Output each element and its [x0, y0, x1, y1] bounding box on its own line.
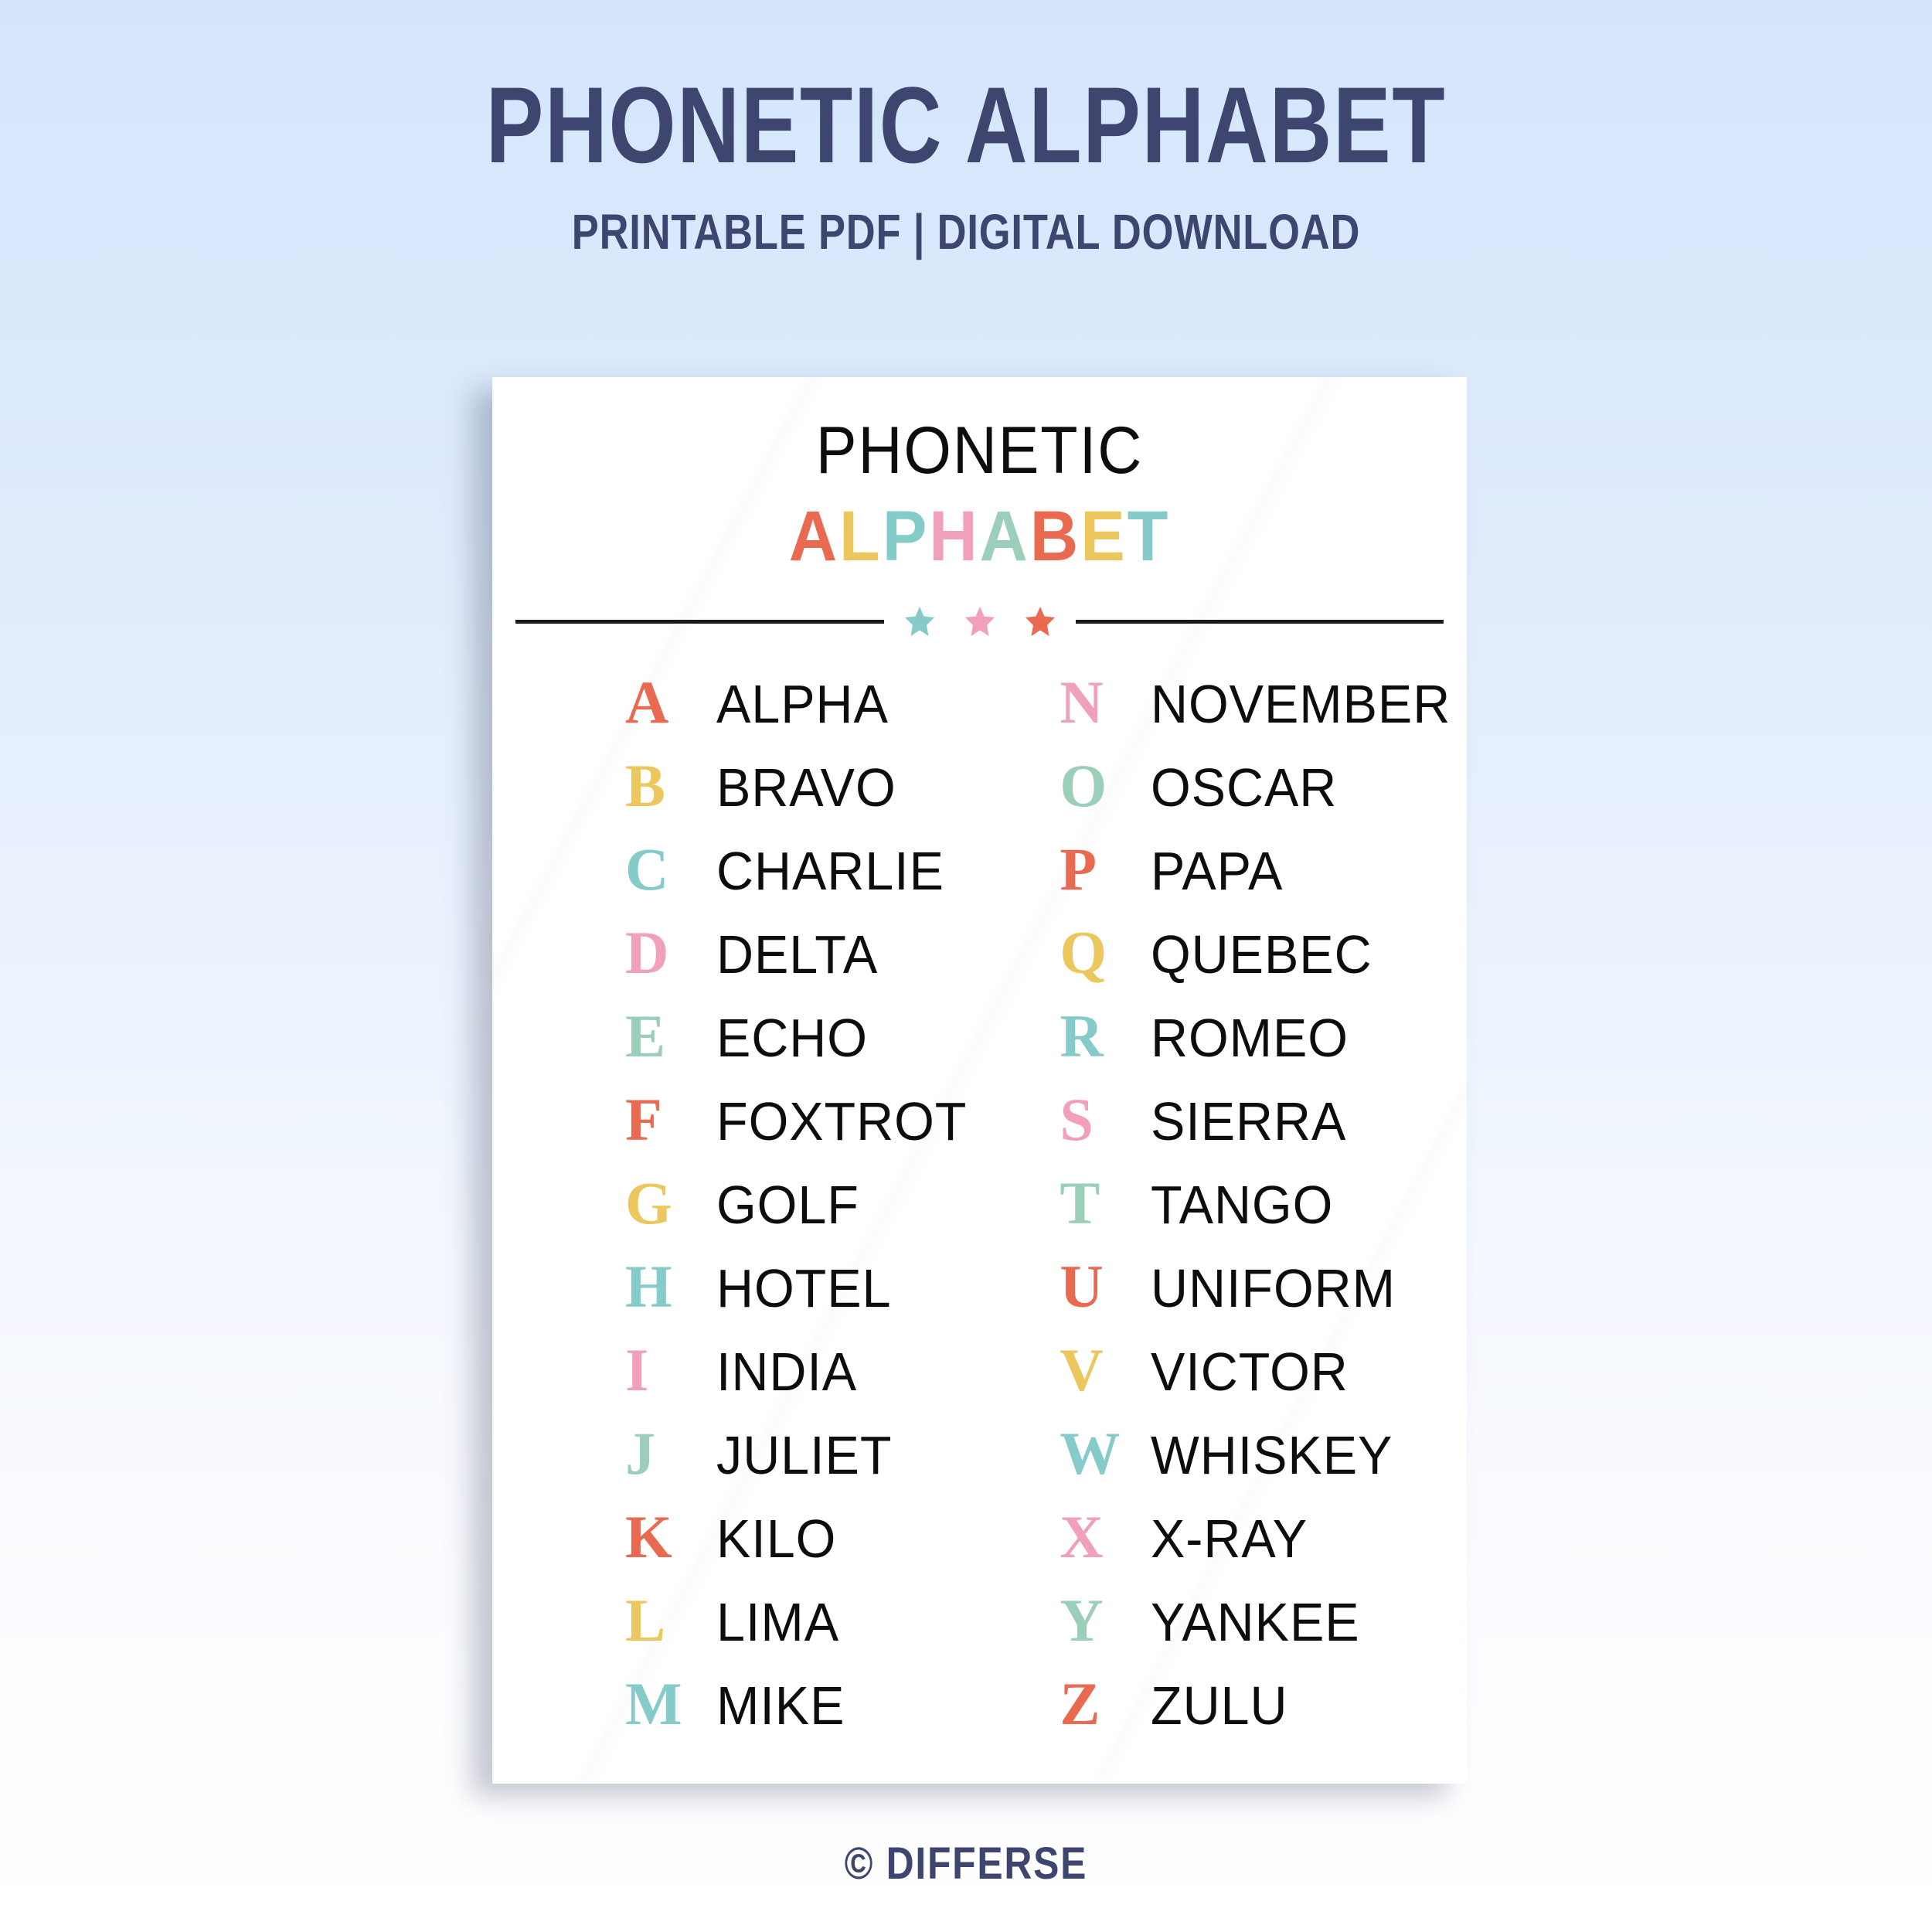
alphabet-word-n: NOVEMBER — [1151, 677, 1451, 731]
card-subtitle-letter-2: P — [883, 501, 930, 572]
alphabet-letter-z: Z — [1060, 1674, 1151, 1734]
alphabet-word-t: TANGO — [1151, 1178, 1333, 1232]
alphabet-row-f: FFOXTROT — [625, 1090, 1001, 1173]
alphabet-row-r: RROMEO — [1060, 1006, 1467, 1090]
page-subtitle: PRINTABLE PDF | DIGITAL DOWNLOAD — [174, 179, 1758, 257]
alphabet-letter-n: N — [1060, 672, 1151, 733]
alphabet-word-r: ROMEO — [1151, 1011, 1349, 1065]
alphabet-column-left: AALPHABBRAVOCCHARLIEDDELTAEECHOFFOXTROTG… — [492, 672, 1001, 1757]
card-divider — [492, 606, 1467, 637]
alphabet-row-e: EECHO — [625, 1006, 1001, 1090]
alphabet-letter-q: Q — [1060, 923, 1151, 983]
alphabet-letter-h: H — [625, 1257, 716, 1317]
card-title: PHONETIC — [531, 417, 1427, 484]
alphabet-row-o: OOSCAR — [1060, 756, 1467, 839]
alphabet-word-z: ZULU — [1151, 1679, 1287, 1733]
card-subtitle-letter-1: L — [839, 501, 883, 572]
alphabet-word-a: ALPHA — [716, 677, 889, 731]
alphabet-row-b: BBRAVO — [625, 756, 1001, 839]
alphabet-letter-c: C — [625, 839, 716, 900]
card-subtitle-letter-7: T — [1128, 501, 1171, 572]
card-subtitle-letter-5: B — [1030, 501, 1080, 572]
card-subtitle-letter-3: H — [929, 501, 979, 572]
alphabet-row-y: YYANKEE — [1060, 1590, 1467, 1674]
alphabet-row-p: PPAPA — [1060, 839, 1467, 923]
alphabet-word-u: UNIFORM — [1151, 1261, 1396, 1315]
card-subtitle-letter-4: A — [980, 501, 1030, 572]
alphabet-row-j: JJULIET — [625, 1423, 1001, 1507]
alphabet-row-q: QQUEBEC — [1060, 923, 1467, 1006]
alphabet-row-c: CCHARLIE — [625, 839, 1001, 923]
alphabet-row-x: XX-RAY — [1060, 1507, 1467, 1590]
alphabet-row-t: TTANGO — [1060, 1173, 1467, 1257]
divider-line-left — [515, 620, 884, 624]
star-coral-icon — [1025, 606, 1056, 637]
card-subtitle-letter-6: E — [1080, 501, 1128, 572]
alphabet-word-x: X-RAY — [1151, 1512, 1308, 1566]
alphabet-word-w: WHISKEY — [1151, 1428, 1393, 1482]
alphabet-letter-s: S — [1060, 1090, 1151, 1150]
alphabet-letter-g: G — [625, 1173, 716, 1233]
alphabet-letter-u: U — [1060, 1257, 1151, 1317]
card-subtitle-alphabet: ALPHABET — [522, 484, 1437, 572]
alphabet-column-right: NNOVEMBEROOSCARPPAPAQQUEBECRROMEOSSIERRA… — [1001, 672, 1467, 1757]
alphabet-letter-y: Y — [1060, 1590, 1151, 1651]
alphabet-row-h: HHOTEL — [625, 1257, 1001, 1340]
alphabet-letter-l: L — [625, 1590, 716, 1651]
alphabet-word-q: QUEBEC — [1151, 927, 1372, 981]
printable-preview-card: PHONETIC ALPHABET AALPHABBRAVOCCHARLIEDD… — [492, 377, 1467, 1784]
alphabet-letter-x: X — [1060, 1507, 1151, 1567]
divider-star-group — [884, 606, 1076, 637]
alphabet-letter-i: I — [625, 1340, 716, 1400]
alphabet-row-s: SSIERRA — [1060, 1090, 1467, 1173]
alphabet-letter-o: O — [1060, 756, 1151, 816]
alphabet-word-v: VICTOR — [1151, 1345, 1349, 1399]
alphabet-letter-r: R — [1060, 1006, 1151, 1066]
alphabet-letter-v: V — [1060, 1340, 1151, 1400]
alphabet-word-s: SIERRA — [1151, 1094, 1346, 1148]
alphabet-row-n: NNOVEMBER — [1060, 672, 1467, 756]
divider-line-right — [1076, 620, 1444, 624]
alphabet-word-l: LIMA — [716, 1595, 839, 1649]
alphabet-row-i: IINDIA — [625, 1340, 1001, 1423]
star-teal-icon — [904, 606, 935, 637]
alphabet-letter-e: E — [625, 1006, 716, 1066]
alphabet-row-w: WWHISKEY — [1060, 1423, 1467, 1507]
alphabet-letter-b: B — [625, 756, 716, 816]
alphabet-word-d: DELTA — [716, 927, 878, 981]
card-subtitle-letter-0: A — [789, 501, 839, 572]
alphabet-row-l: LLIMA — [625, 1590, 1001, 1674]
star-pink-icon — [964, 606, 995, 637]
card-header: PHONETIC ALPHABET — [492, 377, 1467, 572]
alphabet-word-i: INDIA — [716, 1345, 857, 1399]
alphabet-word-j: JULIET — [716, 1428, 892, 1482]
page-title: PHONETIC ALPHABET — [193, 0, 1739, 179]
alphabet-word-f: FOXTROT — [716, 1094, 967, 1148]
alphabet-word-h: HOTEL — [716, 1261, 891, 1315]
alphabet-word-o: OSCAR — [1151, 760, 1337, 815]
alphabet-row-v: VVICTOR — [1060, 1340, 1467, 1423]
alphabet-table: AALPHABBRAVOCCHARLIEDDELTAEECHOFFOXTROTG… — [492, 672, 1467, 1757]
alphabet-letter-t: T — [1060, 1173, 1151, 1233]
alphabet-word-p: PAPA — [1151, 844, 1283, 898]
alphabet-letter-w: W — [1060, 1423, 1151, 1484]
alphabet-word-y: YANKEE — [1151, 1595, 1360, 1649]
alphabet-row-z: ZZULU — [1060, 1674, 1467, 1757]
alphabet-word-b: BRAVO — [716, 760, 896, 815]
alphabet-letter-f: F — [625, 1090, 716, 1150]
alphabet-letter-m: M — [625, 1674, 716, 1734]
alphabet-word-g: GOLF — [716, 1178, 859, 1232]
copyright-text: © DIFFERSE — [845, 1838, 1087, 1889]
alphabet-letter-j: J — [625, 1423, 716, 1484]
alphabet-letter-a: A — [625, 672, 716, 733]
alphabet-word-e: ECHO — [716, 1011, 868, 1065]
alphabet-word-c: CHARLIE — [716, 844, 944, 898]
alphabet-row-a: AALPHA — [625, 672, 1001, 756]
alphabet-row-u: UUNIFORM — [1060, 1257, 1467, 1340]
alphabet-letter-d: D — [625, 923, 716, 983]
alphabet-word-m: MIKE — [716, 1679, 845, 1733]
alphabet-row-g: GGOLF — [625, 1173, 1001, 1257]
page-header: PHONETIC ALPHABET PRINTABLE PDF | DIGITA… — [0, 0, 1932, 257]
page-footer: © DIFFERSE — [0, 1838, 1932, 1889]
alphabet-letter-k: K — [625, 1507, 716, 1567]
alphabet-word-k: KILO — [716, 1512, 836, 1566]
alphabet-row-m: MMIKE — [625, 1674, 1001, 1757]
alphabet-letter-p: P — [1060, 839, 1151, 900]
alphabet-row-k: KKILO — [625, 1507, 1001, 1590]
alphabet-row-d: DDELTA — [625, 923, 1001, 1006]
